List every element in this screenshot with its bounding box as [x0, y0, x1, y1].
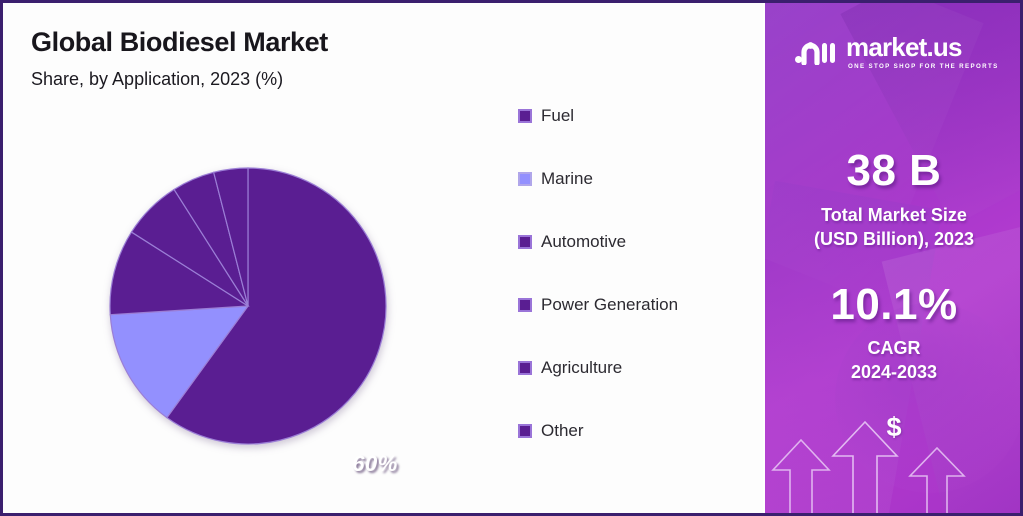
legend-item-agriculture[interactable]: Agriculture [518, 359, 753, 377]
growth-arrows-icon [765, 398, 1023, 513]
page-subtitle: Share, by Application, 2023 (%) [31, 69, 283, 90]
legend-swatch-icon [518, 172, 532, 186]
market-size-label: Total Market Size (USD Billion), 2023 [765, 203, 1023, 251]
arrow-up-icon [833, 422, 897, 513]
market-size-value: 38 B [765, 146, 1023, 196]
arrow-up-icon [773, 440, 829, 513]
pie-slice-group [110, 168, 386, 444]
market-size-label-line1: Total Market Size [765, 203, 1023, 227]
pie-data-label-fuel: 60% [352, 451, 398, 477]
arrow-up-icon [910, 448, 964, 513]
legend-item-marine[interactable]: Marine [518, 170, 753, 188]
legend-swatch-icon [518, 424, 532, 438]
logo-text-group: market.us ONE STOP SHOP FOR THE REPORTS [846, 34, 999, 70]
cagr-label: CAGR 2024-2033 [765, 336, 1023, 384]
legend-swatch-icon [518, 298, 532, 312]
market-size-label-line2: (USD Billion), 2023 [765, 227, 1023, 251]
cagr-label-line1: CAGR [765, 336, 1023, 360]
legend-item-other[interactable]: Other [518, 422, 753, 440]
chart-legend: Fuel Marine Automotive Power Generation … [518, 107, 753, 485]
logo-tagline: ONE STOP SHOP FOR THE REPORTS [848, 63, 999, 70]
legend-label: Marine [541, 170, 593, 188]
legend-item-fuel[interactable]: Fuel [518, 107, 753, 125]
legend-label: Fuel [541, 107, 574, 125]
legend-label: Power Generation [541, 296, 678, 314]
cagr-value: 10.1% [765, 280, 1023, 330]
chart-panel: Global Biodiesel Market Share, by Applic… [3, 3, 763, 513]
market-us-logo-icon [795, 35, 839, 65]
stats-panel: market.us ONE STOP SHOP FOR THE REPORTS … [765, 3, 1023, 513]
legend-label: Automotive [541, 233, 626, 251]
brand-logo[interactable]: market.us ONE STOP SHOP FOR THE REPORTS [795, 34, 995, 74]
legend-swatch-icon [518, 235, 532, 249]
legend-label: Other [541, 422, 584, 440]
legend-swatch-icon [518, 109, 532, 123]
legend-swatch-icon [518, 361, 532, 375]
cagr-label-line2: 2024-2033 [765, 360, 1023, 384]
page-title: Global Biodiesel Market [31, 27, 328, 58]
legend-item-power-generation[interactable]: Power Generation [518, 296, 753, 314]
infographic-root: Global Biodiesel Market Share, by Applic… [0, 0, 1023, 516]
pie-chart-svg [55, 121, 445, 469]
legend-item-automotive[interactable]: Automotive [518, 233, 753, 251]
logo-wordmark: market.us [846, 34, 999, 60]
legend-label: Agriculture [541, 359, 622, 377]
pie-chart: 60% [55, 121, 445, 469]
